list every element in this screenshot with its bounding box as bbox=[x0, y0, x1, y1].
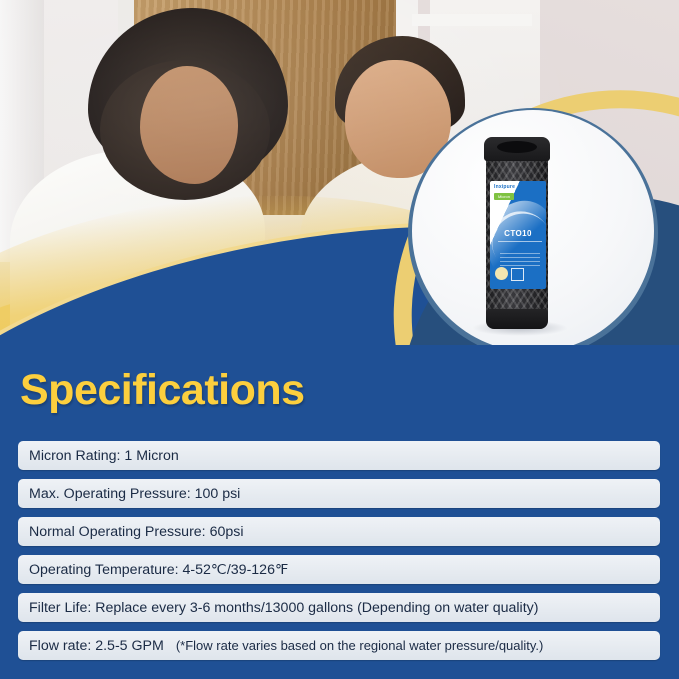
spec-text: Micron Rating: 1 Micron bbox=[29, 448, 179, 464]
spec-row: Micron Rating: 1 Micron bbox=[18, 441, 660, 470]
cartridge-cap-opening bbox=[497, 141, 537, 153]
product-specifications-page: Inxipure Micron CTO10 Specifications Mic… bbox=[0, 0, 679, 679]
filter-cartridge: Inxipure Micron CTO10 bbox=[484, 137, 550, 329]
micron-badge-text: Micron bbox=[494, 193, 514, 200]
specifications-list: Micron Rating: 1 Micron Max. Operating P… bbox=[18, 441, 660, 669]
spec-row: Normal Operating Pressure: 60psi bbox=[18, 517, 660, 546]
spec-row: Max. Operating Pressure: 100 psi bbox=[18, 479, 660, 508]
label-detail-lines bbox=[500, 253, 540, 267]
cartridge-model-text: CTO10 bbox=[490, 229, 546, 238]
spec-text: Normal Operating Pressure: 60psi bbox=[29, 524, 243, 540]
spec-row: Filter Life: Replace every 3-6 months/13… bbox=[18, 593, 660, 622]
cartridge-base bbox=[486, 309, 548, 329]
woman-face bbox=[140, 66, 238, 184]
spec-text: Filter Life: Replace every 3-6 months/13… bbox=[29, 600, 538, 616]
brand-logo-text: Inxipure bbox=[494, 184, 515, 190]
spec-text: Flow rate: 2.5-5 GPM bbox=[29, 638, 164, 654]
spec-note: (*Flow rate varies based on the regional… bbox=[164, 638, 544, 653]
spec-text: Max. Operating Pressure: 100 psi bbox=[29, 486, 240, 502]
spec-row: Flow rate: 2.5-5 GPM (*Flow rate varies … bbox=[18, 631, 660, 660]
shelf bbox=[412, 14, 532, 26]
hero-banner: Inxipure Micron CTO10 bbox=[0, 0, 679, 345]
cartridge-label: Inxipure Micron CTO10 bbox=[490, 181, 546, 289]
micron-badge: Micron bbox=[494, 193, 514, 200]
label-spec-lines bbox=[498, 241, 542, 243]
spec-row: Operating Temperature: 4-52℃/39-126℉ bbox=[18, 555, 660, 584]
spec-text: Operating Temperature: 4-52℃/39-126℉ bbox=[29, 562, 288, 578]
label-certification-badge bbox=[495, 267, 508, 280]
page-title: Specifications bbox=[20, 366, 305, 415]
label-icon-box bbox=[511, 268, 524, 281]
cartridge-cap bbox=[484, 137, 550, 161]
